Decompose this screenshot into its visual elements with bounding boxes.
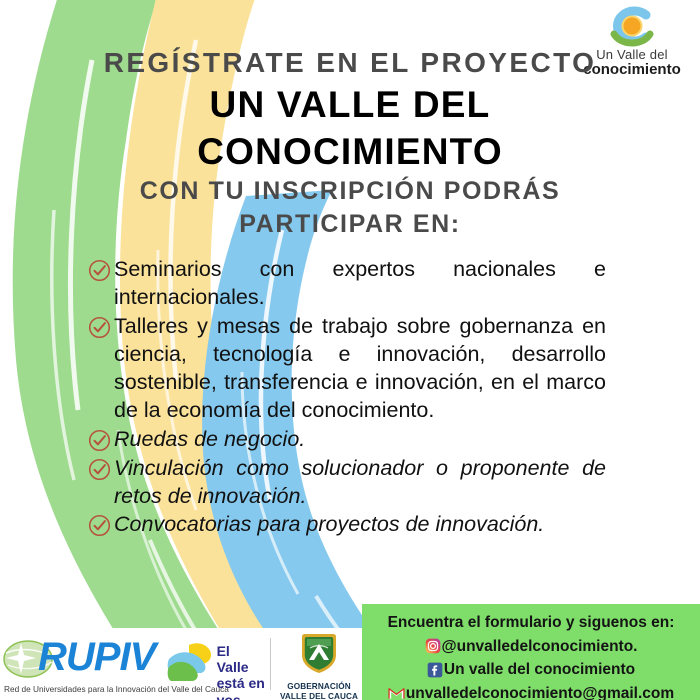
header-subkicker-line2: PARTICIPAR EN: [90, 210, 610, 240]
header-title-line1: UN VALLE DEL [90, 83, 610, 127]
facebook-row[interactable]: Un valle del conocimiento [362, 658, 700, 682]
facebook-handle[interactable]: Un valle del conocimiento [444, 658, 635, 682]
facebook-icon[interactable] [427, 662, 443, 678]
contact-heading-text: Encuentra el formulario y siguenos en: [388, 611, 675, 635]
gobernacion-line1: GOBERNACIÓN [276, 682, 362, 692]
rupiv-wordmark: RUPIV [38, 637, 155, 677]
list-item: Seminarios con expertos nacionales e int… [88, 256, 606, 312]
list-item-text: Talleres y mesas de trabajo sobre gobern… [114, 314, 606, 422]
el-valle-line1: El Valle [217, 643, 266, 675]
gobernacion-wordmark: GOBERNACIÓN VALLE DEL CAUCA [276, 682, 362, 700]
instagram-handle[interactable]: @unvalledelconocimiento. [442, 635, 638, 659]
el-valle-line3: vos [217, 692, 266, 700]
header-block: REGÍSTRATE EN EL PROYECTO UN VALLE DEL C… [90, 48, 610, 239]
list-item: Vinculación como solucionador o proponen… [88, 455, 606, 511]
rupiv-tagline: Red de Universidades para la Innovación … [4, 684, 184, 694]
el-valle-logo: El Valle está en vos [167, 631, 266, 697]
header-subkicker-line1: CON TU INSCRIPCIÓN PODRÁS [90, 177, 610, 207]
poster-canvas: Un Valle del conocimiento REGÍSTRATE EN … [0, 0, 700, 700]
el-valle-line2: está en [217, 675, 266, 691]
gobernacion-line2: VALLE DEL CAUCA [276, 692, 362, 700]
check-circle-icon [88, 458, 111, 481]
email-address[interactable]: unvalledelconocimiento@gmail.com [406, 682, 674, 700]
check-circle-icon [88, 316, 111, 339]
footer-logos: RUPIV Red de Universidades para la Innov… [0, 628, 362, 700]
list-item-text: Seminarios con expertos nacionales e int… [114, 257, 606, 309]
instagram-icon[interactable] [425, 638, 441, 654]
benefits-list: Seminarios con expertos nacionales e int… [88, 256, 606, 540]
check-circle-icon [88, 259, 111, 282]
check-circle-icon [88, 514, 111, 537]
rupiv-logo: RUPIV Red de Universidades para la Innov… [0, 631, 167, 697]
list-item-text: Vinculación como solucionador o proponen… [114, 456, 606, 508]
el-valle-hills-icon [167, 641, 219, 687]
list-item-text: Convocatorias para proyectos de innovaci… [114, 512, 544, 536]
check-circle-icon [88, 429, 111, 452]
gobernacion-shield-icon [297, 630, 341, 676]
email-row[interactable]: unvalledelconocimiento@gmail.com [362, 682, 700, 700]
logo-divider [270, 638, 271, 690]
valle-conocimiento-logo-icon [601, 4, 663, 50]
header-title-line2: CONOCIMIENTO [90, 130, 610, 174]
gmail-icon[interactable] [388, 686, 405, 700]
header-kicker: REGÍSTRATE EN EL PROYECTO [90, 48, 610, 79]
instagram-row[interactable]: @unvalledelconocimiento. [362, 635, 700, 659]
gobernacion-logo: GOBERNACIÓN VALLE DEL CAUCA [276, 630, 362, 698]
el-valle-wordmark: El Valle está en vos [217, 643, 266, 700]
contact-heading: Encuentra el formulario y siguenos en: [362, 611, 700, 635]
list-item: Talleres y mesas de trabajo sobre gobern… [88, 313, 606, 425]
list-item-text: Ruedas de negocio. [114, 427, 305, 451]
list-item: Convocatorias para proyectos de innovaci… [88, 511, 606, 539]
contact-card: Encuentra el formulario y siguenos en: @… [362, 604, 700, 700]
list-item: Ruedas de negocio. [88, 426, 606, 454]
